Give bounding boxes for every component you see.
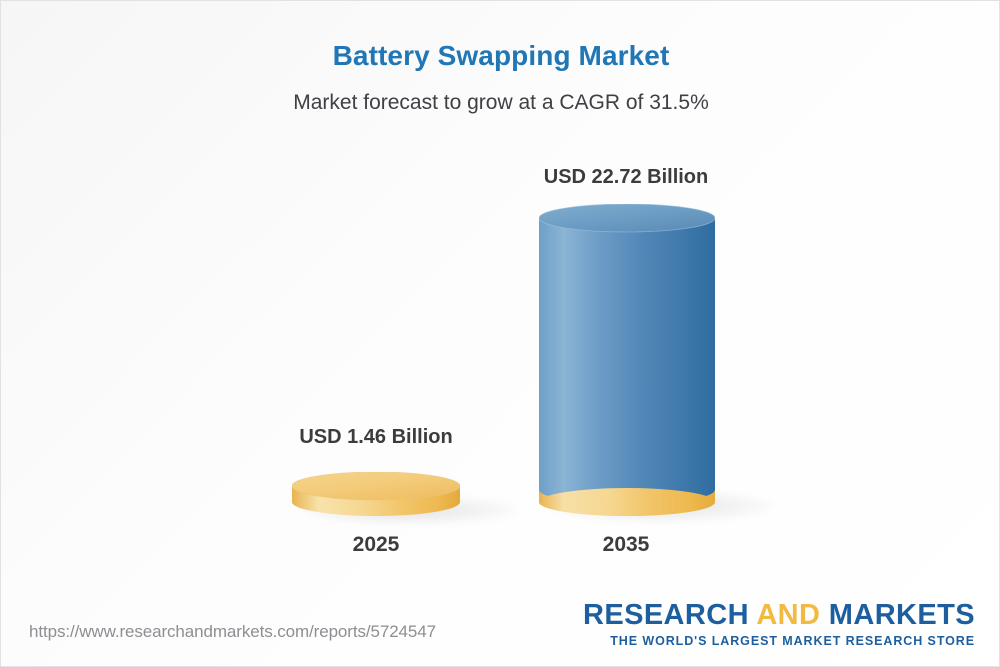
bar-cylinder-2035[interactable]: [539, 204, 715, 516]
category-label-2035: 2035: [466, 533, 786, 557]
logo-tagline: THE WORLD'S LARGEST MARKET RESEARCH STOR…: [583, 634, 975, 648]
plot-area: USD 1.46 Billion USD 22.72 Billion 2025 …: [1, 1, 1000, 601]
logo-word-research: RESEARCH: [583, 599, 756, 631]
value-label-2035: USD 22.72 Billion: [466, 166, 786, 189]
logo-word-and: AND: [756, 599, 820, 631]
chart-canvas: Battery Swapping Market Market forecast …: [0, 0, 1000, 667]
research-and-markets-logo: RESEARCH AND MARKETS THE WORLD'S LARGEST…: [583, 601, 975, 648]
value-label-2025: USD 1.46 Billion: [216, 426, 536, 449]
logo-wordmark: RESEARCH AND MARKETS: [583, 601, 975, 631]
bar-cylinder-2025[interactable]: [292, 472, 460, 516]
logo-word-markets: MARKETS: [820, 599, 975, 631]
source-url[interactable]: https://www.researchandmarkets.com/repor…: [29, 622, 436, 642]
